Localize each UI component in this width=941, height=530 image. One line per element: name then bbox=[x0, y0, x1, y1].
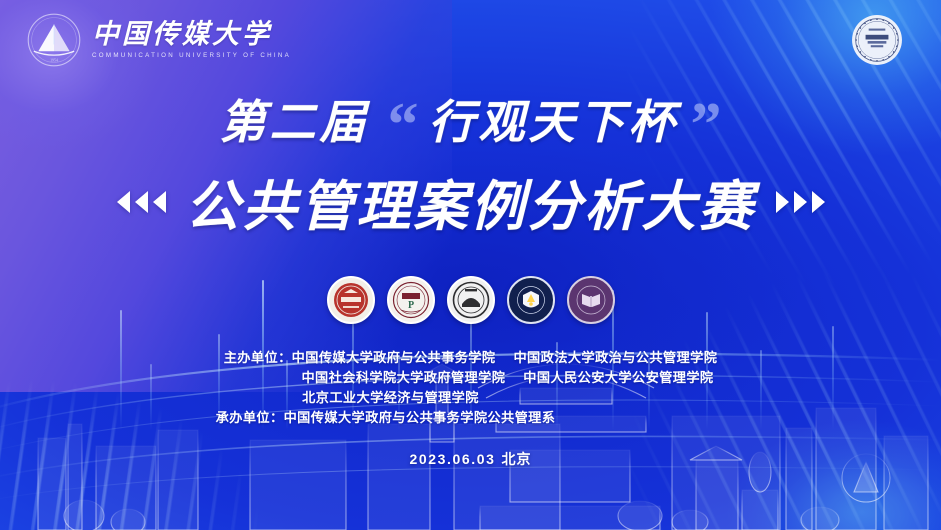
emblem-3-art bbox=[451, 280, 491, 320]
undertaker-label: 承办单位： bbox=[216, 410, 284, 425]
svg-text:1954: 1954 bbox=[50, 58, 58, 62]
event-poster: 1954 中国传媒大学 COMMUNICATION UNIVERSITY OF … bbox=[0, 0, 941, 530]
host-row-3: 北京工业大学经济与管理学院 bbox=[0, 388, 941, 408]
circular-seal-icon bbox=[851, 14, 903, 66]
university-name-en: COMMUNICATION UNIVERSITY OF CHINA bbox=[92, 53, 291, 59]
host-org-2: 中国政法大学政治与公共管理学院 bbox=[513, 350, 717, 365]
host-row-1: 主办单位：中国传媒大学政府与公共事务学院中国政法大学政治与公共管理学院 bbox=[0, 348, 941, 368]
organizer-emblems: P bbox=[0, 276, 941, 324]
event-date-location: 2023.06.03北京 bbox=[0, 449, 941, 469]
undertaker-org: 中国传媒大学政府与公共事务学院公共管理系 bbox=[284, 410, 556, 425]
svg-text:P: P bbox=[407, 300, 413, 311]
emblem-1 bbox=[327, 276, 375, 324]
event-city: 北京 bbox=[502, 451, 532, 467]
title-line-2: 公共管理案例分析大赛 bbox=[0, 162, 941, 241]
title-block: 第二届 “ 行观天下杯 ” 公共管理案例分析大赛 bbox=[0, 88, 941, 241]
host-org-5: 北京工业大学经济与管理学院 bbox=[302, 390, 479, 405]
main-title: 公共管理案例分析大赛 bbox=[186, 162, 756, 241]
host-org-3: 中国社会科学院大学政府管理学院 bbox=[301, 370, 505, 385]
cup-name: 行观天下杯 bbox=[429, 86, 679, 152]
host-org-1: 中国传媒大学政府与公共事务学院 bbox=[292, 350, 496, 365]
right-chevrons-icon bbox=[776, 191, 825, 213]
emblem-5 bbox=[567, 276, 615, 324]
host-row-2: 中国社会科学院大学政府管理学院中国人民公安大学公安管理学院 bbox=[0, 368, 941, 388]
title-line-1: 第二届 “ 行观天下杯 ” bbox=[0, 88, 941, 150]
left-chevrons-icon bbox=[117, 191, 166, 213]
emblem-2-art: P bbox=[391, 280, 431, 320]
cuc-pyramid-emblem-icon: 1954 bbox=[26, 12, 82, 68]
undertaker-row: 承办单位：中国传媒大学政府与公共事务学院公共管理系 bbox=[0, 408, 941, 428]
emblem-3 bbox=[447, 276, 495, 324]
emblem-1-art bbox=[331, 280, 371, 320]
event-date: 2023.06.03 bbox=[409, 451, 495, 467]
host-label: 主办单位： bbox=[224, 350, 292, 365]
emblem-4-art bbox=[511, 280, 551, 320]
edition-label: 第二届 bbox=[220, 86, 370, 152]
host-org-4: 中国人民公安大学公安管理学院 bbox=[523, 370, 713, 385]
organizer-info: 主办单位：中国传媒大学政府与公共事务学院中国政法大学政治与公共管理学院 中国社会… bbox=[0, 348, 941, 428]
emblem-4 bbox=[507, 276, 555, 324]
university-logo: 1954 中国传媒大学 COMMUNICATION UNIVERSITY OF … bbox=[26, 12, 291, 68]
emblem-2: P bbox=[387, 276, 435, 324]
university-name-cn: 中国传媒大学 bbox=[92, 21, 291, 48]
emblem-5-art bbox=[571, 280, 611, 320]
